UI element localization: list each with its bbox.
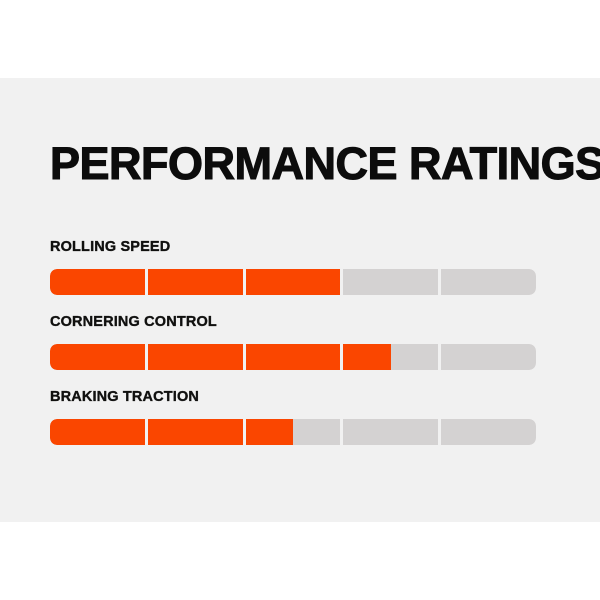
rating-bar-braking-traction: [50, 419, 536, 445]
rating-bar-cornering-control: [50, 344, 536, 370]
bar-segment-fill: [148, 269, 243, 295]
bar-segment: [441, 419, 536, 445]
bar-segment: [246, 344, 341, 370]
bar-segment-fill: [50, 419, 145, 445]
rating-label-braking-traction: BRAKING TRACTION: [50, 388, 199, 406]
bar-segment-fill: [246, 419, 293, 445]
rating-row: BRAKING TRACTION: [0, 388, 600, 463]
bar-segment-fill: [246, 269, 341, 295]
bar-segment: [343, 419, 438, 445]
bar-segment: [441, 269, 536, 295]
bar-segment: [246, 269, 341, 295]
rating-label-rolling-speed: ROLLING SPEED: [50, 238, 170, 256]
rating-row: ROLLING SPEED: [0, 238, 600, 313]
bar-segment-fill: [246, 344, 341, 370]
bar-segment: [148, 419, 243, 445]
bar-segment: [148, 344, 243, 370]
bar-segment: [50, 269, 145, 295]
page-title: PERFORMANCE RATINGS: [50, 137, 600, 191]
bar-segment: [148, 269, 243, 295]
rating-label-cornering-control: CORNERING CONTROL: [50, 313, 217, 331]
bar-segment: [50, 419, 145, 445]
rating-row: CORNERING CONTROL: [0, 313, 600, 388]
bar-segment: [343, 344, 438, 370]
rating-bar-rolling-speed: [50, 269, 536, 295]
ratings-list: ROLLING SPEED CORNERING CONTROL BRAKING …: [0, 238, 600, 463]
bar-segment: [50, 344, 145, 370]
bar-segment-fill: [343, 344, 390, 370]
bar-segment-fill: [50, 269, 145, 295]
bar-segment-fill: [148, 344, 243, 370]
bar-segment: [441, 344, 536, 370]
bar-segment-fill: [148, 419, 243, 445]
bar-segment-fill: [50, 344, 145, 370]
bar-segment: [343, 269, 438, 295]
bar-segment: [246, 419, 341, 445]
